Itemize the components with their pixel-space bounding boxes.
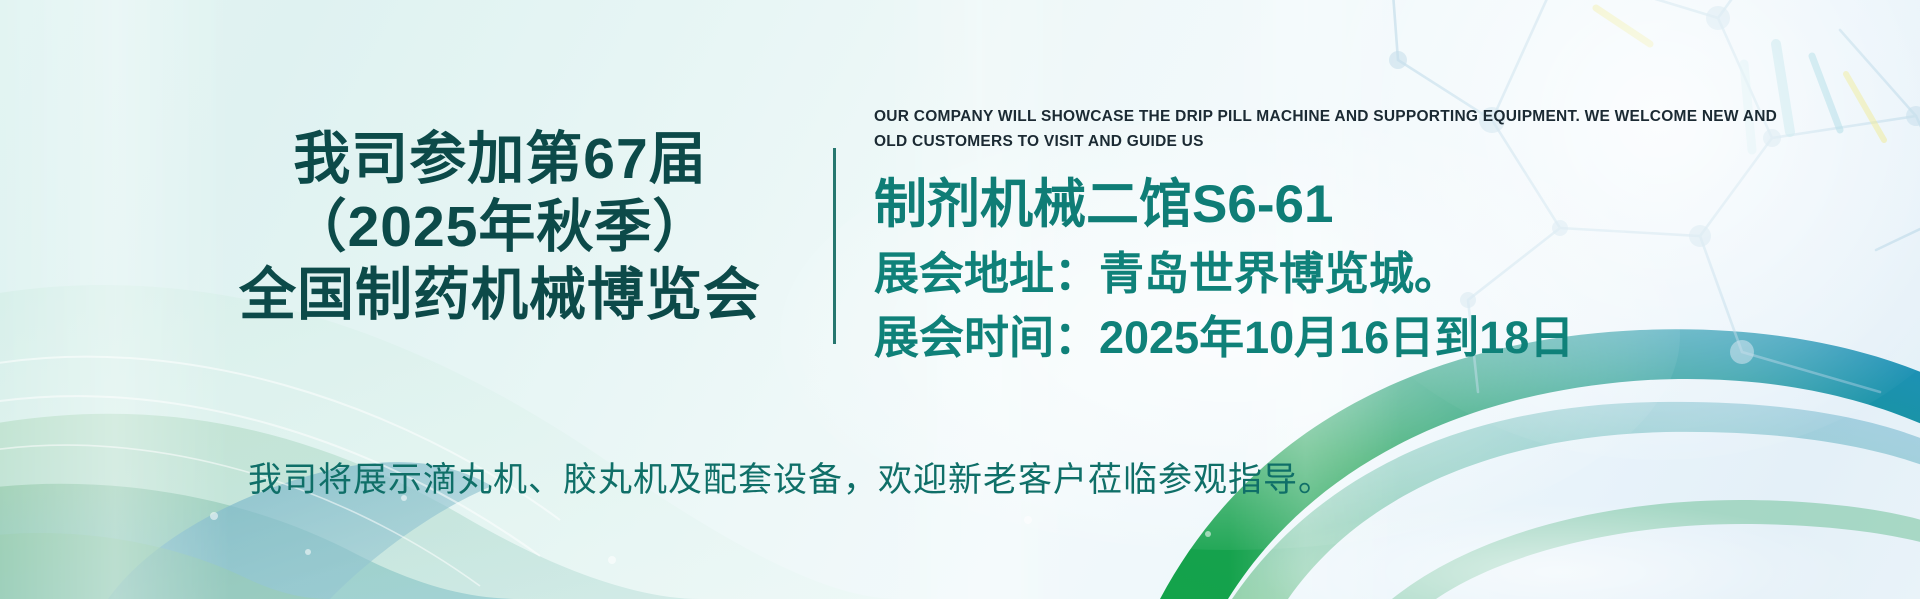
exhibition-banner: 我司参加第67届 （2025年秋季） 全国制药机械博览会 OUR COMPANY… <box>0 0 1920 599</box>
main-title-line-3: 全国制药机械博览会 <box>170 262 830 330</box>
details-column: OUR COMPANY WILL SHOWCASE THE DRIP PILL … <box>874 104 1814 364</box>
booth-number: 制剂机械二馆S6-61 <box>874 176 1814 233</box>
main-title: 我司参加第67届 （2025年秋季） 全国制药机械博览会 <box>170 126 830 329</box>
date-line: 展会时间：2025年10月16日到18日 <box>874 311 1814 364</box>
banner-content: 我司参加第67届 （2025年秋季） 全国制药机械博览会 OUR COMPANY… <box>0 0 1920 599</box>
slogan-line: 我司将展示滴丸机、胶丸机及配套设备，欢迎新老客户莅临参观指导。 <box>248 452 1333 501</box>
title-divider <box>833 148 836 344</box>
english-caption: OUR COMPANY WILL SHOWCASE THE DRIP PILL … <box>874 104 1792 154</box>
main-title-line-2: （2025年秋季） <box>170 194 830 262</box>
venue-line: 展会地址：青岛世界博览城。 <box>874 247 1814 300</box>
main-title-line-1: 我司参加第67届 <box>170 126 830 194</box>
